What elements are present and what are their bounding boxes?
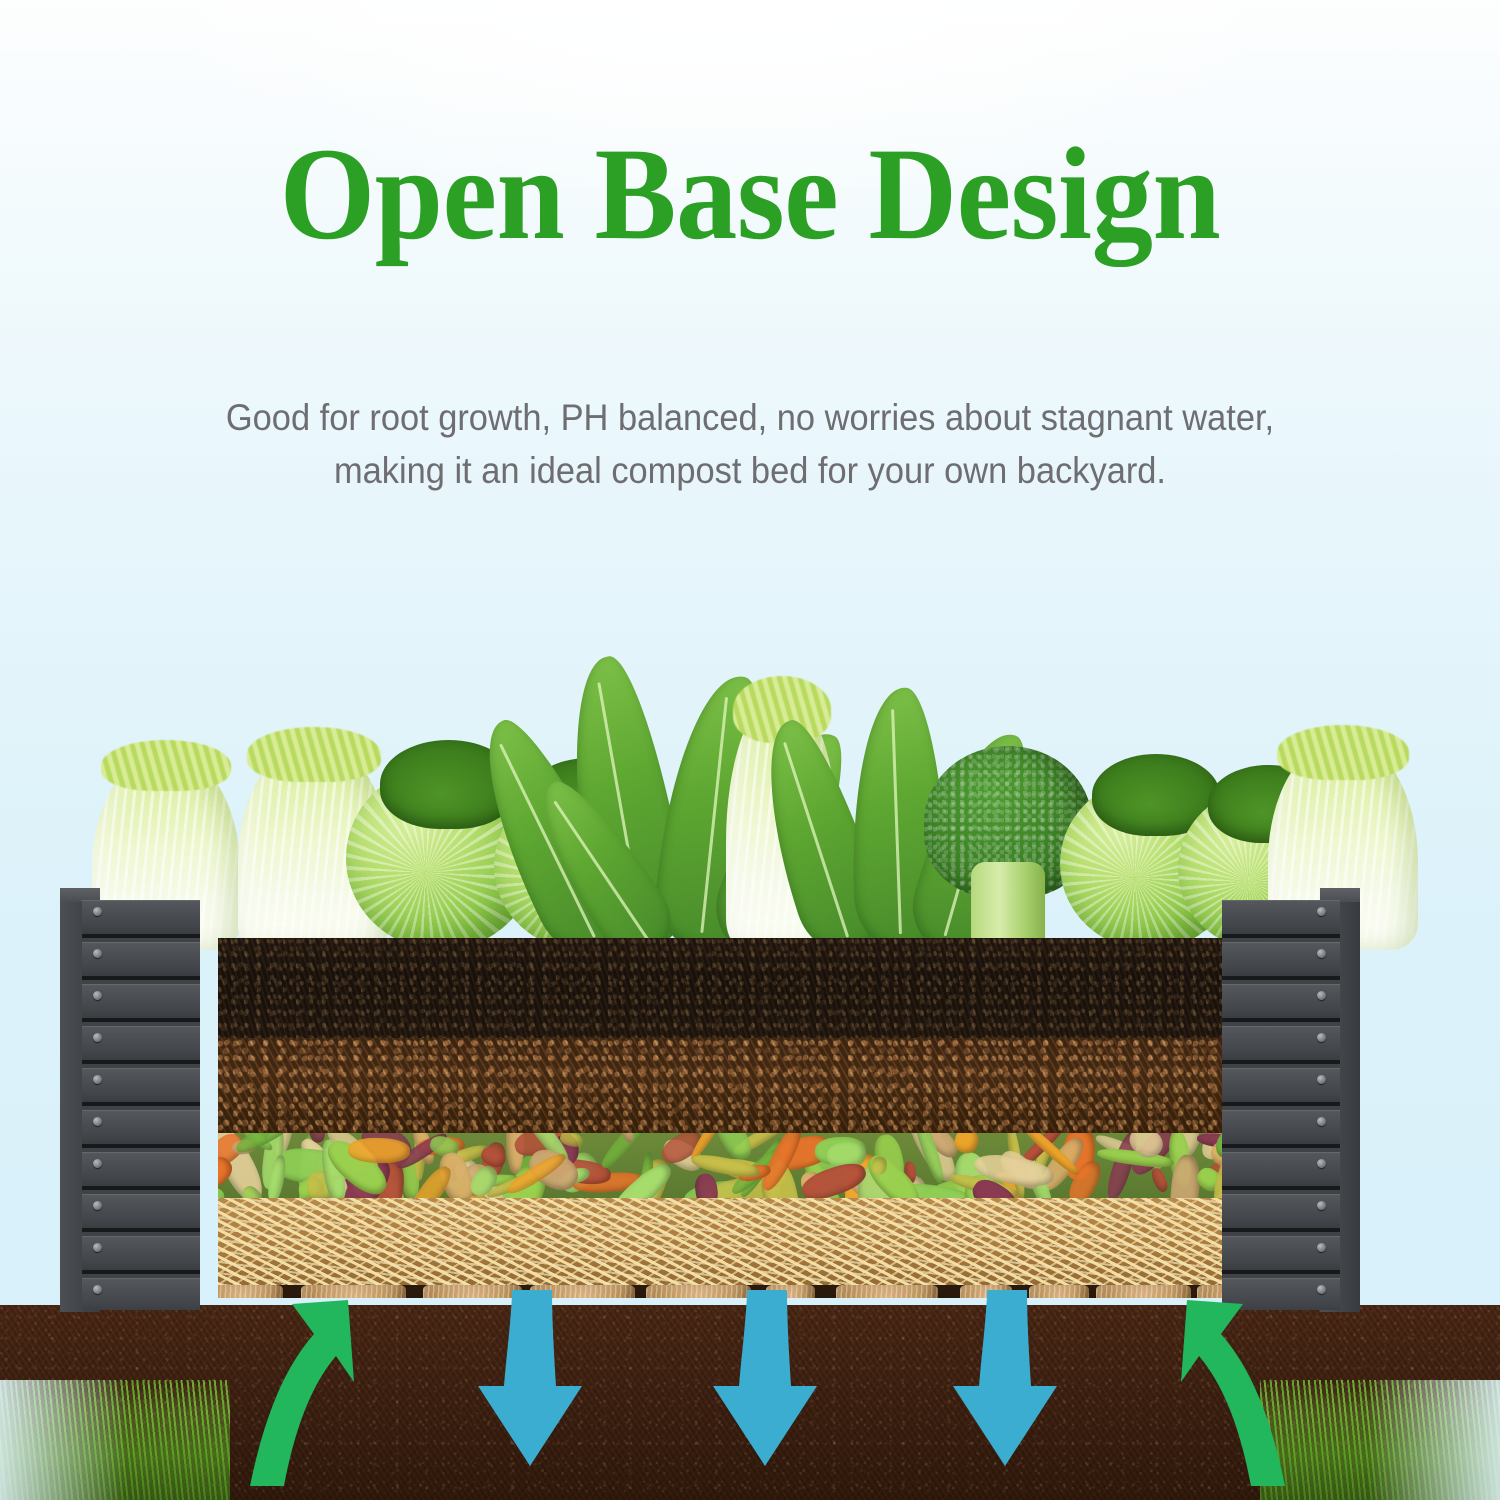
panel-screw (93, 1033, 102, 1042)
panel-slat (1222, 900, 1340, 938)
food-scrap (347, 1137, 410, 1164)
page-title: Open Base Design (53, 128, 1448, 260)
panel-slat (1222, 1194, 1340, 1232)
layer-compost (218, 1038, 1282, 1133)
panel-slat (1222, 1068, 1340, 1106)
panel-screw (93, 949, 102, 958)
bed-cross-section (218, 938, 1282, 1298)
layer-straw (218, 1198, 1282, 1285)
panel-slat (82, 1026, 200, 1064)
panel-slat (1222, 1236, 1340, 1274)
panel-screw (1317, 949, 1326, 958)
food-scrap (1149, 1167, 1170, 1195)
food-scrap (218, 1187, 224, 1198)
panel-screw (1317, 1243, 1326, 1252)
panel-screw (93, 1201, 102, 1210)
panel-screw (93, 991, 102, 1000)
panel-screw (93, 1117, 102, 1126)
airflow-arrow-down-1 (470, 1290, 590, 1495)
slat-stack-left (82, 900, 200, 1310)
panel-slat (82, 1194, 200, 1232)
layer-food-scraps (218, 1133, 1282, 1198)
panel-screw (93, 907, 102, 916)
panel-slat (82, 1068, 200, 1106)
panel-slat (82, 1110, 200, 1148)
panel-screw (93, 1243, 102, 1252)
raised-garden-bed (0, 900, 1500, 1320)
slat-stack-right (1222, 900, 1340, 1310)
metal-panel-right (1222, 900, 1340, 1310)
panel-slat (1222, 1026, 1340, 1064)
panel-screw (1317, 1033, 1326, 1042)
food-scrap (693, 1173, 719, 1198)
panel-slat (1222, 942, 1340, 980)
product-feature-image: Open Base Design Good for root growth, P… (0, 0, 1500, 1500)
airflow-arrow-up-right (1175, 1290, 1295, 1495)
page-subtitle: Good for root growth, PH balanced, no wo… (70, 392, 1430, 497)
panel-screw (1317, 1075, 1326, 1084)
panel-slat (82, 984, 200, 1022)
panel-screw (1317, 907, 1326, 916)
subtitle-line-1: Good for root growth, PH balanced, no wo… (118, 392, 1383, 445)
panel-slat (82, 900, 200, 938)
panel-screw (1317, 991, 1326, 1000)
panel-screw (93, 1075, 102, 1084)
panel-slat (82, 942, 200, 980)
airflow-arrow-down-2 (705, 1290, 825, 1495)
metal-panel-left (82, 900, 200, 1310)
airflow-arrow-down-3 (945, 1290, 1065, 1495)
airflow-arrow-group (0, 1290, 1500, 1500)
panel-slat (1222, 984, 1340, 1022)
panel-screw (1317, 1117, 1326, 1126)
panel-slat (1222, 1152, 1340, 1190)
panel-screw (1317, 1201, 1326, 1210)
airflow-arrow-up-left (240, 1290, 360, 1495)
panel-screw (1317, 1159, 1326, 1168)
panel-slat (82, 1236, 200, 1274)
panel-slat (82, 1152, 200, 1190)
panel-slat (1222, 1110, 1340, 1148)
subtitle-line-2: making it an ideal compost bed for your … (118, 445, 1383, 498)
layer-topsoil (218, 938, 1282, 1038)
panel-screw (93, 1159, 102, 1168)
